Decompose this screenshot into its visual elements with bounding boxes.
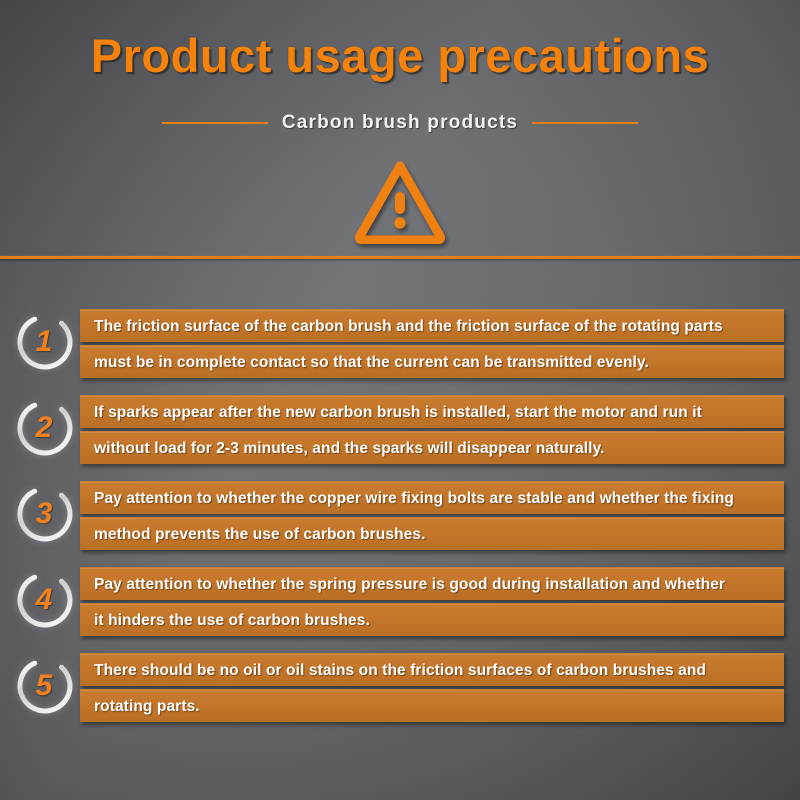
page-subtitle: Carbon brush products — [282, 112, 518, 134]
step-text-line: method prevents the use of carbon brushe… — [80, 517, 784, 550]
step-text-bars: The friction surface of the carbon brush… — [80, 309, 784, 378]
list-item: 4 Pay attention to whether the spring pr… — [0, 563, 800, 649]
step-text-bars: Pay attention to whether the copper wire… — [80, 481, 784, 550]
step-text-line: Pay attention to whether the spring pres… — [80, 567, 784, 600]
step-text-line: The friction surface of the carbon brush… — [80, 309, 784, 342]
infographic-page: Product usage precautions Carbon brush p… — [0, 0, 800, 800]
step-number: 2 — [16, 399, 74, 457]
warning-triangle-icon — [354, 160, 446, 244]
list-item: 5 There should be no oil or oil stains o… — [0, 649, 800, 735]
warning-icon-wrapper — [0, 160, 800, 244]
step-text-line: There should be no oil or oil stains on … — [80, 653, 784, 686]
page-title: Product usage precautions — [0, 28, 800, 83]
subtitle-rule-right — [532, 122, 638, 124]
step-text-bars: There should be no oil or oil stains on … — [80, 653, 784, 722]
step-number-badge: 3 — [16, 485, 74, 543]
step-text-line: it hinders the use of carbon brushes. — [80, 603, 784, 636]
subtitle-rule-left — [162, 122, 268, 124]
step-number-badge: 1 — [16, 313, 74, 371]
step-number-badge: 2 — [16, 399, 74, 457]
list-item: 3 Pay attention to whether the copper wi… — [0, 477, 800, 563]
section-divider — [0, 256, 800, 259]
step-text-line: If sparks appear after the new carbon br… — [80, 395, 784, 428]
step-text-line: Pay attention to whether the copper wire… — [80, 481, 784, 514]
list-item: 1 The friction surface of the carbon bru… — [0, 305, 800, 391]
step-number: 3 — [16, 485, 74, 543]
step-number: 1 — [16, 313, 74, 371]
subtitle-row: Carbon brush products — [0, 112, 800, 134]
step-number: 4 — [16, 571, 74, 629]
step-text-bars: If sparks appear after the new carbon br… — [80, 395, 784, 464]
list-item: 2 If sparks appear after the new carbon … — [0, 391, 800, 477]
step-number: 5 — [16, 657, 74, 715]
step-text-line: without load for 2-3 minutes, and the sp… — [80, 431, 784, 464]
step-text-line: rotating parts. — [80, 689, 784, 722]
step-number-badge: 5 — [16, 657, 74, 715]
step-text-line: must be in complete contact so that the … — [80, 345, 784, 378]
step-number-badge: 4 — [16, 571, 74, 629]
precautions-list: 1 The friction surface of the carbon bru… — [0, 305, 800, 735]
step-text-bars: Pay attention to whether the spring pres… — [80, 567, 784, 636]
